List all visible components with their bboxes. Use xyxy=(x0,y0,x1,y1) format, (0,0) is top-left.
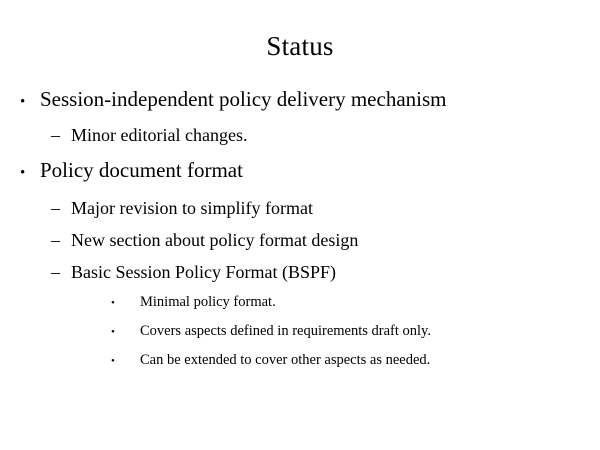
list-item: – Basic Session Policy Format (BSPF) xyxy=(0,258,600,287)
list-item-label: Policy document format xyxy=(40,155,600,186)
list-item-label: Major revision to simplify format xyxy=(71,194,600,223)
bullet-level1-icon: • xyxy=(20,87,40,118)
slide-canvas: Status • Session-independent policy deli… xyxy=(0,0,600,450)
list-item: • Covers aspects defined in requirements… xyxy=(0,319,600,345)
list-item-label: Covers aspects defined in requirements d… xyxy=(140,319,600,344)
bullet-level3-icon: • xyxy=(111,349,140,374)
bullet-level2-icon: – xyxy=(51,121,71,150)
list-item: – Minor editorial changes. xyxy=(0,121,600,150)
list-item: • Can be extended to cover other aspects… xyxy=(0,348,600,374)
bullet-level2-icon: – xyxy=(51,226,71,255)
bullet-level3-icon: • xyxy=(111,291,140,316)
page-title: Status xyxy=(0,30,600,62)
list-item: • Session-independent policy delivery me… xyxy=(0,84,600,118)
list-item-label: Minor editorial changes. xyxy=(71,121,600,150)
list-item-label: Can be extended to cover other aspects a… xyxy=(140,348,600,373)
list-item-label: Basic Session Policy Format (BSPF) xyxy=(71,258,600,287)
bullet-level3-icon: • xyxy=(111,320,140,345)
list-item-label: New section about policy format design xyxy=(71,226,600,255)
bullet-level1-icon: • xyxy=(20,158,40,189)
list-item: • Minimal policy format. xyxy=(0,290,600,316)
bullet-level2-icon: – xyxy=(51,194,71,223)
list-item-label: Session-independent policy delivery mech… xyxy=(40,84,600,115)
list-item-label: Minimal policy format. xyxy=(140,290,600,315)
list-item: • Policy document format xyxy=(0,155,600,189)
bullet-level2-icon: – xyxy=(51,258,71,287)
list-item: – New section about policy format design xyxy=(0,226,600,255)
list-item: – Major revision to simplify format xyxy=(0,194,600,223)
slide-content-outline: • Session-independent policy delivery me… xyxy=(0,84,600,374)
